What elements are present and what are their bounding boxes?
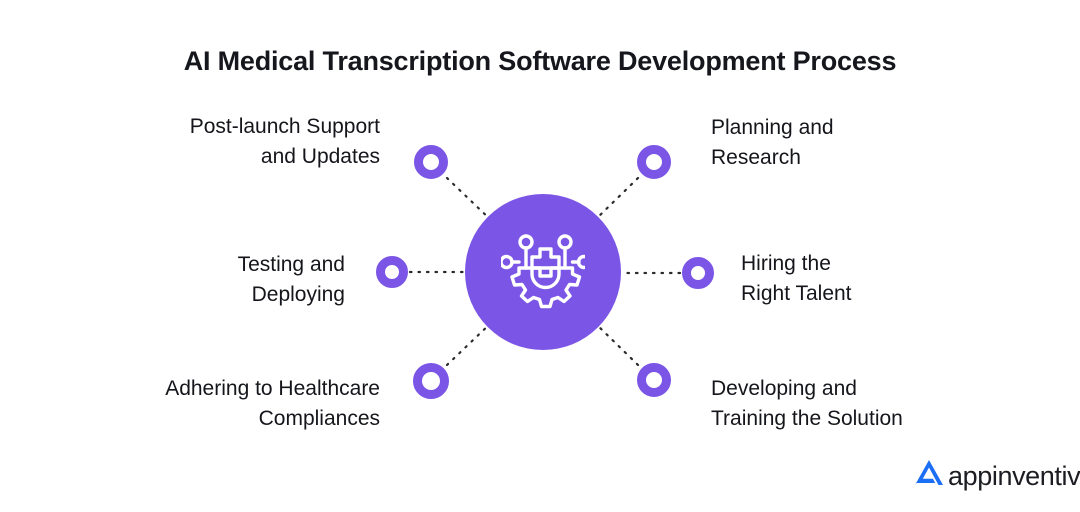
node-marker-testing-and-deploying[interactable] — [376, 256, 408, 288]
node-label-line2: Training the Solution — [711, 404, 903, 434]
node-label-line2: Right Talent — [741, 279, 852, 309]
node-label-testing-and-deploying: Testing and Deploying — [238, 250, 345, 310]
appinventiv-wordmark: appinventiv — [948, 463, 1080, 490]
node-label-line1: Hiring the — [741, 249, 852, 279]
node-marker-adhering-to-healthcare-compliances[interactable] — [413, 363, 449, 399]
infographic-canvas: AI Medical Transcription Software Develo… — [0, 0, 1080, 512]
node-marker-planning-and-research[interactable] — [637, 145, 671, 179]
gear-medical-cross-ai-icon — [501, 232, 585, 312]
node-label-line2: Research — [711, 143, 834, 173]
node-label-line2: and Updates — [190, 142, 380, 172]
node-label-hiring-the-right-talent: Hiring the Right Talent — [741, 249, 852, 309]
connector-line-bottom-right — [594, 322, 638, 365]
node-label-developing-and-training-the-solution: Developing and Training the Solution — [711, 374, 903, 434]
appinventiv-a-mark-icon — [912, 456, 946, 495]
connector-line-bottom-left — [447, 322, 492, 365]
hub-and-spoke-diagram: Post-launch Support and Updates Planning… — [0, 0, 1080, 512]
node-label-adhering-to-healthcare-compliances: Adhering to Healthcare Compliances — [165, 374, 380, 434]
node-label-line1: Developing and — [711, 374, 903, 404]
node-label-line1: Planning and — [711, 113, 834, 143]
center-hub — [465, 194, 621, 350]
node-label-planning-and-research: Planning and Research — [711, 113, 834, 173]
node-label-line2: Compliances — [165, 404, 380, 434]
connector-line-top-left — [447, 178, 492, 221]
node-label-line1: Adhering to Healthcare — [165, 374, 380, 404]
node-marker-post-launch-support-and-updates[interactable] — [414, 145, 448, 179]
node-label-line1: Post-launch Support — [190, 112, 380, 142]
node-label-line2: Deploying — [238, 280, 345, 310]
node-marker-hiring-the-right-talent[interactable] — [682, 257, 714, 289]
node-marker-developing-and-training-the-solution[interactable] — [637, 363, 671, 397]
connector-line-top-right — [594, 178, 638, 221]
node-label-post-launch-support-and-updates: Post-launch Support and Updates — [190, 112, 380, 172]
node-label-line1: Testing and — [238, 250, 345, 280]
appinventiv-logo[interactable]: appinventiv — [912, 456, 1080, 495]
